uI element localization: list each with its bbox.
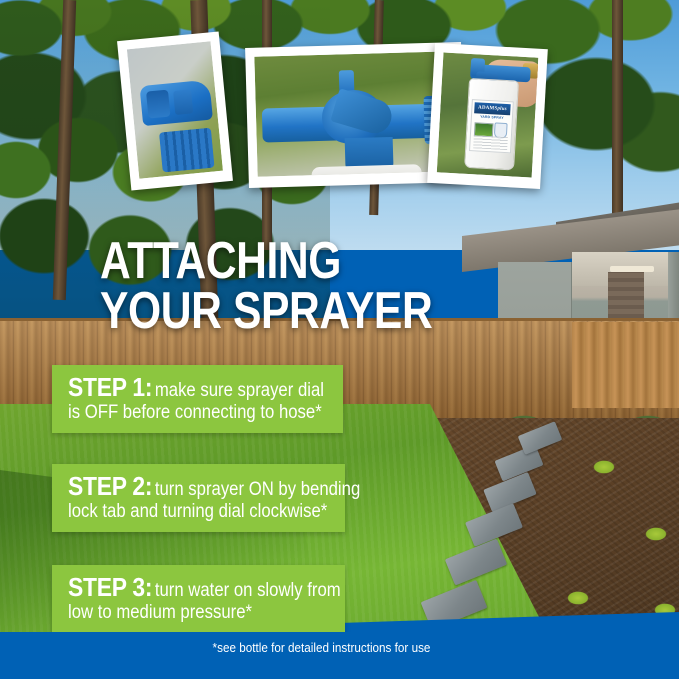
- product-fine-print: [473, 135, 508, 150]
- garden-plant: [636, 520, 676, 548]
- step-1-text-line-1: make sure sprayer dial: [155, 380, 324, 401]
- step-2-box: STEP 2:turn sprayer ON by bending lock t…: [52, 464, 345, 532]
- photo-hand-holding-bottle: ADAMSplus YARD SPRAY: [427, 43, 548, 189]
- step-2-text-line-2: lock tab and turning dial clockwise*: [68, 501, 299, 522]
- step-3-box: STEP 3:turn water on slowly from low to …: [52, 565, 345, 633]
- step-1-box: STEP 1:make sure sprayer dial is OFF bef…: [52, 365, 343, 433]
- garden-plant: [560, 586, 596, 610]
- sprayer-grip: [159, 128, 215, 173]
- photo-1-image: [127, 41, 223, 178]
- step-3-text-line-1: turn water on slowly from: [155, 580, 341, 601]
- photo-sprayer-nozzle-closeup: [117, 31, 233, 190]
- step-1-label: STEP 1:: [68, 372, 152, 402]
- bottle-top: [311, 164, 422, 177]
- page-title: ATTACHING YOUR SPRAYER: [100, 237, 444, 337]
- sprayer-nozzle-slot: [146, 90, 170, 119]
- step-2-text-line-1: turn sprayer ON by bending: [155, 479, 360, 500]
- product-brand-suffix: plus: [497, 107, 507, 113]
- product-brand-name: ADAMSplus: [478, 105, 507, 112]
- step-3-text-line-2: low to medium pressure*: [68, 602, 299, 623]
- garden-plant: [580, 450, 628, 484]
- step-2-line-1: STEP 2:turn sprayer ON by bending: [68, 472, 299, 501]
- product-line-name: YARD SPRAY: [480, 116, 504, 121]
- photo-collage: ADAMSplus YARD SPRAY: [0, 0, 679, 210]
- photo-2-image: [254, 51, 455, 176]
- footer-disclaimer: *see bottle for detailed instructions fo…: [34, 640, 645, 655]
- step-3-line-1: STEP 3:turn water on slowly from: [68, 573, 299, 602]
- step-3-label: STEP 3:: [68, 572, 152, 602]
- photo-3-image: ADAMSplus YARD SPRAY: [437, 52, 539, 177]
- step-2-label: STEP 2:: [68, 471, 152, 501]
- sprayer-nozzle-slot: [173, 89, 193, 115]
- product-bottle: ADAMSplus YARD SPRAY: [464, 78, 519, 171]
- step-1-line-1: STEP 1:make sure sprayer dial: [68, 373, 298, 402]
- product-label: ADAMSplus YARD SPRAY: [469, 99, 514, 153]
- step-1-text-line-2: is OFF before connecting to hose*: [68, 402, 298, 423]
- infographic-canvas: ADAMSplus YARD SPRAY ATTACHING YOUR SPRA…: [0, 0, 679, 679]
- product-brand-bar: ADAMSplus: [474, 102, 511, 115]
